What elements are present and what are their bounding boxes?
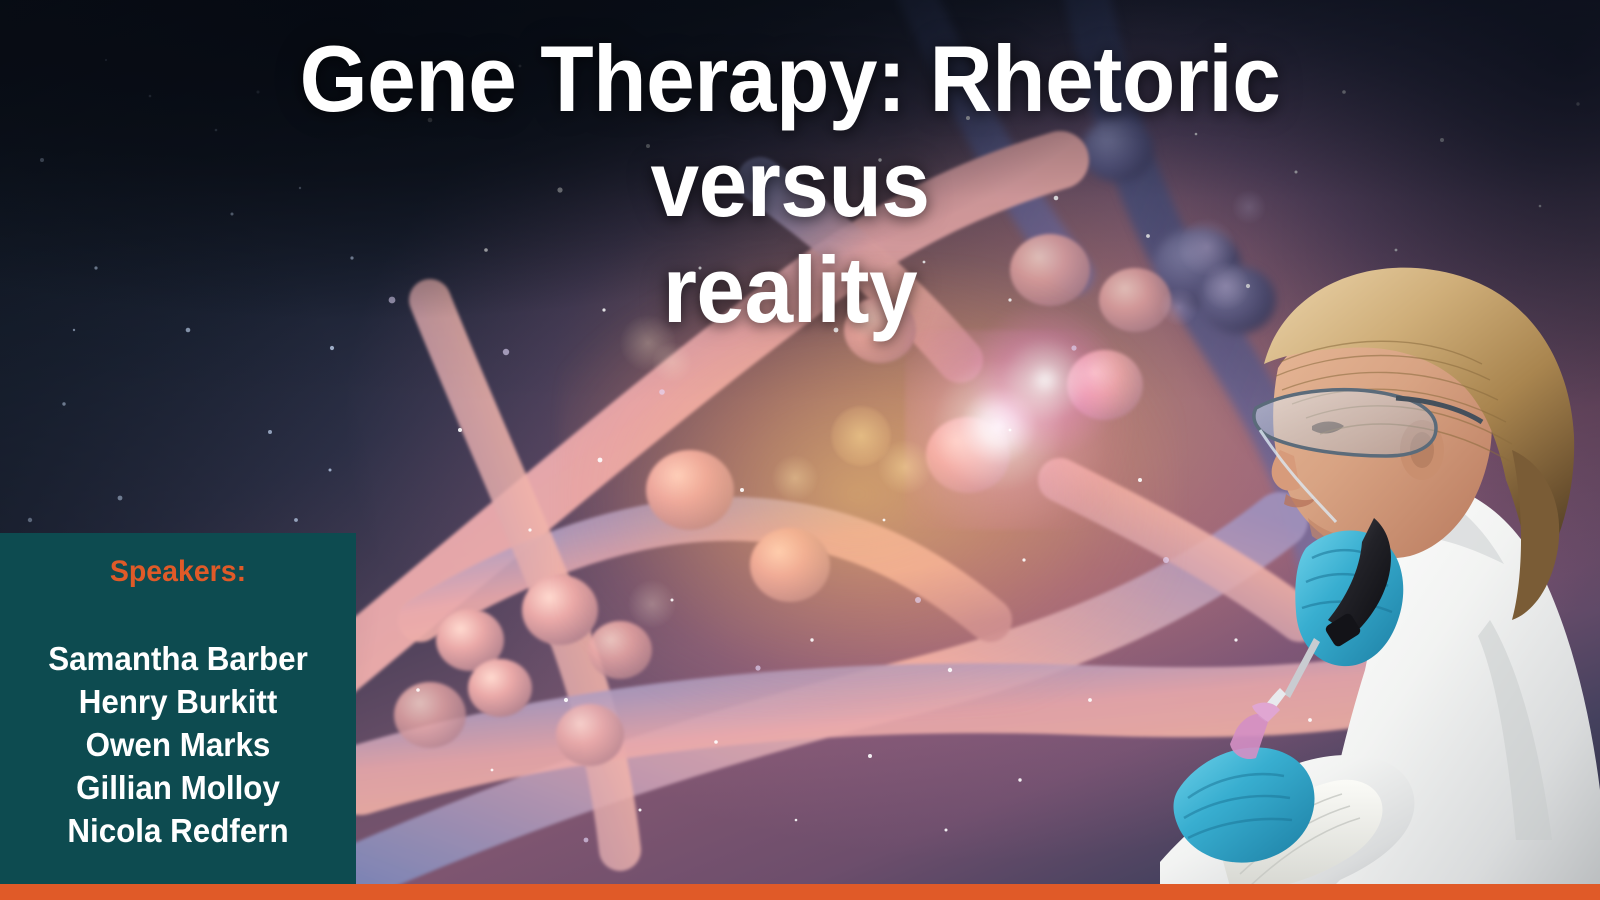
bottom-accent-bar [0,884,1600,900]
speaker-name: Henry Burkitt [9,680,347,723]
speaker-name: Nicola Redfern [9,809,347,852]
scientist-figure [1160,150,1600,900]
speakers-heading: Speakers: [9,555,347,589]
speaker-name: Gillian Molloy [9,766,347,809]
speaker-name: Samantha Barber [9,637,347,680]
speaker-list: Samantha Barber Henry Burkitt Owen Marks… [0,637,356,852]
slide-canvas: Gene Therapy: Rhetoric versus reality Sp… [0,0,1600,900]
speaker-name: Owen Marks [9,723,347,766]
speakers-panel: Speakers: Samantha Barber Henry Burkitt … [0,533,356,884]
